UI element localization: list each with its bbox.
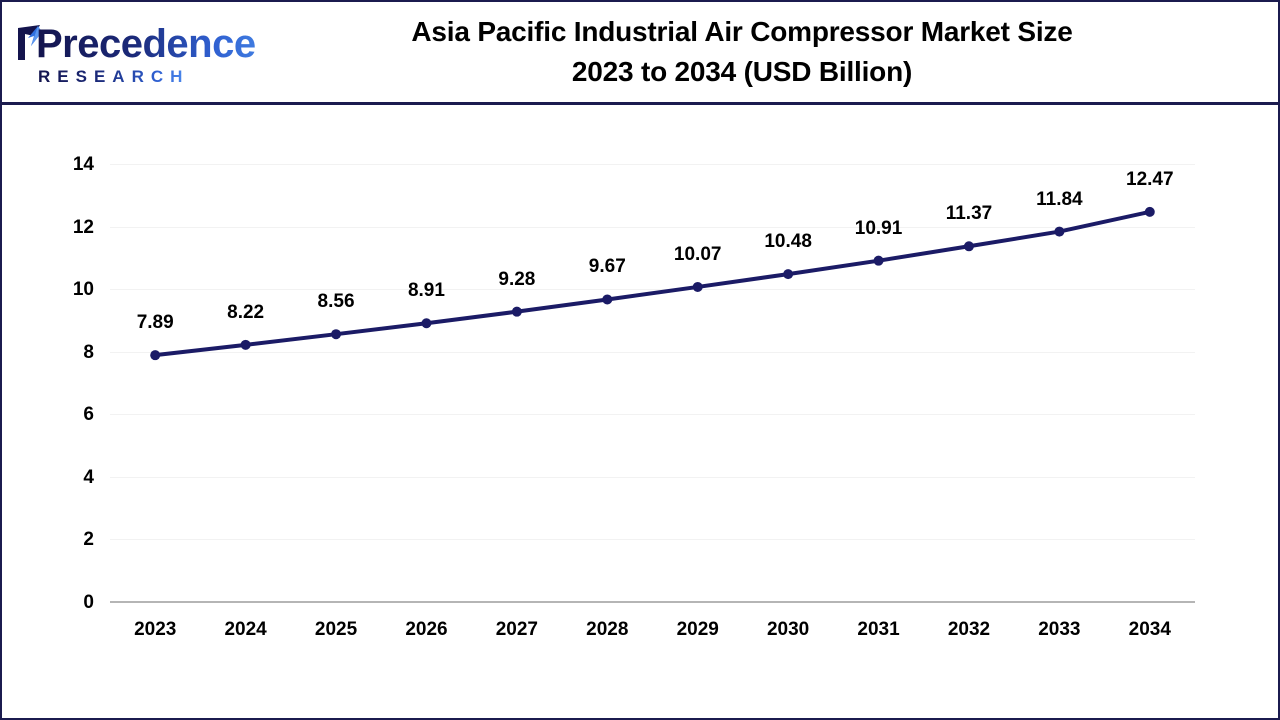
series-marker (1054, 227, 1064, 237)
series-marker (964, 241, 974, 251)
series-marker (783, 269, 793, 279)
data-label: 11.84 (1004, 190, 1114, 209)
title-line-2: 2023 to 2034 (USD Billion) (232, 52, 1252, 92)
chart-header: Precedence RESEARCH Asia Pacific Industr… (2, 2, 1278, 105)
series-marker (331, 329, 341, 339)
series-marker (512, 307, 522, 317)
series-marker (1145, 207, 1155, 217)
series-line (155, 212, 1150, 355)
series-marker (150, 350, 160, 360)
series-marker (602, 294, 612, 304)
series-marker (421, 318, 431, 328)
data-label: 12.47 (1095, 170, 1205, 189)
precedence-research-logo: Precedence RESEARCH (14, 20, 224, 90)
series-marker (241, 340, 251, 350)
page-title: Asia Pacific Industrial Air Compressor M… (232, 12, 1252, 92)
chart-plot-area: 02468101214 2023202420252026202720282029… (2, 105, 1278, 718)
series-marker (693, 282, 703, 292)
logo-subtext: RESEARCH (38, 68, 189, 85)
chart-page: Precedence RESEARCH Asia Pacific Industr… (0, 0, 1280, 720)
series-marker (874, 256, 884, 266)
logo-wordmark: Precedence (36, 24, 256, 64)
title-line-1: Asia Pacific Industrial Air Compressor M… (232, 12, 1252, 52)
